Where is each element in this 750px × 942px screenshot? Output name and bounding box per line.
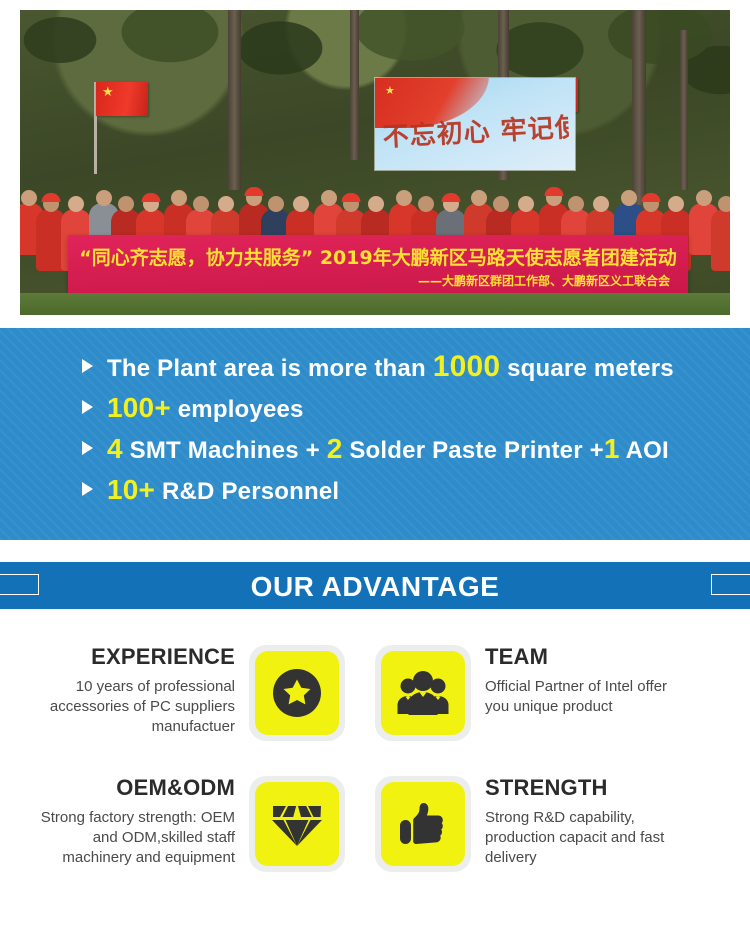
banner-star-icon: ★ [385, 84, 395, 97]
person-silhouette [711, 209, 730, 271]
advantage-text: STRENGTH Strong R&D capability, producti… [471, 776, 690, 868]
event-banner-line1: “同心齐志愿，协力共服务” 2019年大鹏新区马路天使志愿者团建活动 [68, 243, 688, 270]
person-head [696, 190, 712, 206]
person-cap [142, 193, 161, 202]
person-head [193, 196, 209, 212]
person-head [518, 196, 534, 212]
fact-post: employees [171, 396, 304, 423]
person-cap [545, 187, 564, 196]
fact-post: R&D Personnel [155, 478, 339, 505]
person-head [321, 190, 337, 206]
fact-post: square meters [500, 355, 674, 382]
advantage-text: TEAM Official Partner of Intel offer you… [471, 645, 690, 717]
fact-number-2: 2 [327, 433, 343, 464]
fact-number: 100+ [107, 392, 171, 423]
advantage-row: OEM&ODM Strong factory strength: OEM and… [0, 776, 750, 906]
advantage-body: Official Partner of Intel offer you uniq… [485, 677, 690, 717]
fact-item: 4 SMT Machines + 2 Solder Paste Printer … [82, 436, 730, 464]
star-badge-icon [255, 651, 339, 735]
person-head [171, 190, 187, 206]
advantage-card-experience: EXPERIENCE 10 years of professional acce… [30, 645, 345, 775]
person-head [21, 190, 37, 206]
fact-item: The Plant area is more than 1000 square … [82, 354, 730, 382]
advantage-icon-tile [375, 645, 471, 741]
thumbs-up-icon [381, 782, 465, 866]
advantage-card-oem-odm: OEM&ODM Strong factory strength: OEM and… [30, 776, 345, 906]
advantage-icon-tile [249, 776, 345, 872]
person-cap [245, 187, 264, 196]
event-banner-line2: ——大鹏新区群团工作部、大鹏新区义工联合会 [68, 272, 670, 289]
fact-pre: The Plant area is more than [107, 355, 433, 382]
fact-post: SMT Machines + [123, 437, 327, 464]
advantage-heading: EXPERIENCE [30, 645, 235, 669]
person-cap [342, 193, 361, 202]
person-head [68, 196, 84, 212]
advantage-card-strength: STRENGTH Strong R&D capability, producti… [375, 776, 690, 906]
bullet-triangle-icon [82, 482, 93, 496]
advantage-body: 10 years of professional accessories of … [30, 677, 235, 737]
person-head [218, 196, 234, 212]
our-advantage-title: OUR ADVANTAGE [0, 571, 750, 603]
fact-item: 100+ employees [82, 395, 730, 423]
fact-number: 1000 [433, 350, 501, 383]
people-group-icon [381, 651, 465, 735]
fact-number-3: 1 [604, 433, 620, 464]
company-profile-page: ★ 不忘初心 牢记使命 “同心齐志愿，协力共服务” 2019年大鹏新区马路天使志… [0, 0, 750, 942]
advantage-heading: OEM&ODM [30, 776, 235, 800]
person-head [418, 196, 434, 212]
advantage-icon-tile [249, 645, 345, 741]
person-cap [642, 193, 661, 202]
advantage-card-team: TEAM Official Partner of Intel offer you… [375, 645, 690, 775]
photo-tree-trunk [350, 10, 359, 160]
person-head [668, 196, 684, 212]
advantage-row: EXPERIENCE 10 years of professional acce… [0, 645, 750, 775]
fact-text: 10+ R&D Personnel [107, 477, 339, 505]
event-red-banner: “同心齐志愿，协力共服务” 2019年大鹏新区马路天使志愿者团建活动 ——大鹏新… [68, 235, 688, 297]
bullet-triangle-icon [82, 400, 93, 414]
diamond-icon [255, 782, 339, 866]
person-head [96, 190, 112, 206]
advantage-cards: EXPERIENCE 10 years of professional acce… [0, 645, 750, 925]
person-head [293, 196, 309, 212]
person-head [368, 196, 384, 212]
fact-number: 4 [107, 433, 123, 464]
fact-text: 4 SMT Machines + 2 Solder Paste Printer … [107, 436, 669, 464]
fact-post-3: AOI [620, 437, 669, 464]
person-head [593, 196, 609, 212]
person-head [493, 196, 509, 212]
fact-item: 10+ R&D Personnel [82, 477, 730, 505]
person-head [268, 196, 284, 212]
advantage-body: Strong factory strength: OEM and ODM,ski… [30, 808, 235, 868]
advantage-body: Strong R&D capability, production capaci… [485, 808, 690, 868]
team-photo: ★ 不忘初心 牢记使命 “同心齐志愿，协力共服务” 2019年大鹏新区马路天使志… [20, 10, 730, 315]
person-cap [42, 193, 61, 202]
person-head [118, 196, 134, 212]
person-cap [442, 193, 461, 202]
fact-text: The Plant area is more than 1000 square … [107, 354, 674, 382]
bullet-triangle-icon [82, 359, 93, 373]
person-head [621, 190, 637, 206]
advantage-heading: STRENGTH [485, 776, 690, 800]
advantage-text: OEM&ODM Strong factory strength: OEM and… [30, 776, 249, 868]
facts-list: The Plant area is more than 1000 square … [82, 354, 730, 518]
person-head [718, 196, 730, 212]
person-head [568, 196, 584, 212]
flag-cloth [96, 82, 148, 116]
photo-grass [20, 293, 730, 315]
fact-number: 10+ [107, 474, 155, 505]
advantage-text: EXPERIENCE 10 years of professional acce… [30, 645, 249, 737]
advantage-heading: TEAM [485, 645, 690, 669]
person-head [471, 190, 487, 206]
our-advantage-banner: OUR ADVANTAGE [0, 562, 750, 609]
company-facts-panel: The Plant area is more than 1000 square … [0, 328, 750, 540]
fact-post-2: Solder Paste Printer + [342, 437, 603, 464]
advantage-icon-tile [375, 776, 471, 872]
person-head [396, 190, 412, 206]
bullet-triangle-icon [82, 441, 93, 455]
chinese-flag-left [96, 82, 148, 116]
fact-text: 100+ employees [107, 395, 304, 423]
